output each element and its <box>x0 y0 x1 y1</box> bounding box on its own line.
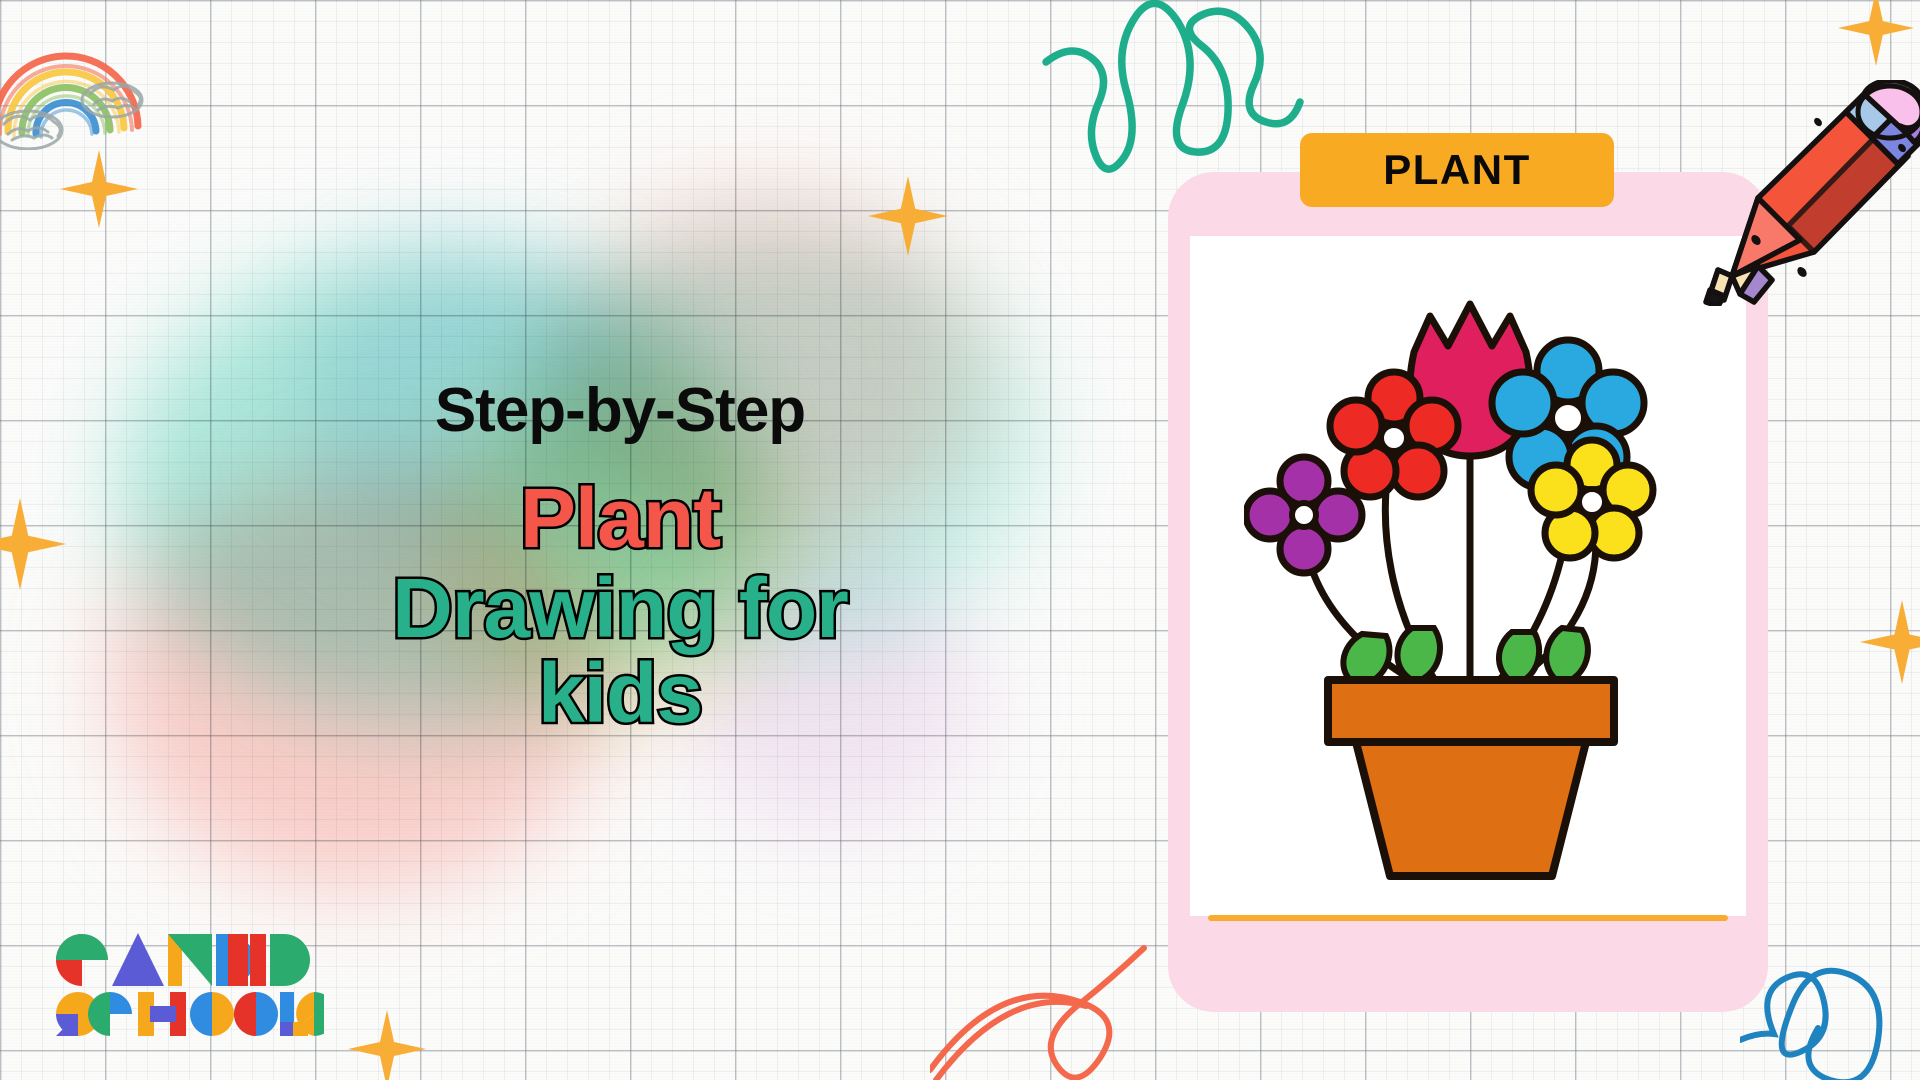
logo-letter-n1 <box>168 934 212 986</box>
logo-letter-o1-half <box>190 992 212 1036</box>
candid-schools-logo-icon[interactable] <box>52 928 324 1046</box>
poster-canvas: Step-by-Step Plant Drawing for kids PLAN… <box>0 0 1920 1080</box>
logo-letter-h1 <box>138 992 186 1036</box>
title-line-drawing-for: Drawing for <box>300 566 940 652</box>
plant-badge[interactable]: PLANT <box>1300 133 1614 207</box>
headline-block: Step-by-Step Plant Drawing for kids <box>300 380 940 737</box>
pencil-icon <box>1696 80 1920 306</box>
rainbow-icon <box>0 0 166 150</box>
potted-flowers-illustration <box>1244 290 1696 890</box>
logo-letter-d1 <box>216 934 254 986</box>
title-line-kids: kids <box>300 651 940 737</box>
title-line-plant: Plant <box>300 476 940 562</box>
card-underline-rule <box>1208 915 1728 921</box>
plant-badge-label: PLANT <box>1383 146 1531 194</box>
logo-letter-o2-half <box>234 992 256 1036</box>
logo-letter-c2 <box>88 992 132 1036</box>
logo-letter-a1 <box>112 933 164 986</box>
logo-letter-d2 <box>270 934 310 986</box>
logo-letter-c1 <box>56 934 108 986</box>
flower-pot <box>1328 680 1614 876</box>
kicker-text: Step-by-Step <box>300 380 940 442</box>
logo-letter-i1 <box>250 934 266 986</box>
